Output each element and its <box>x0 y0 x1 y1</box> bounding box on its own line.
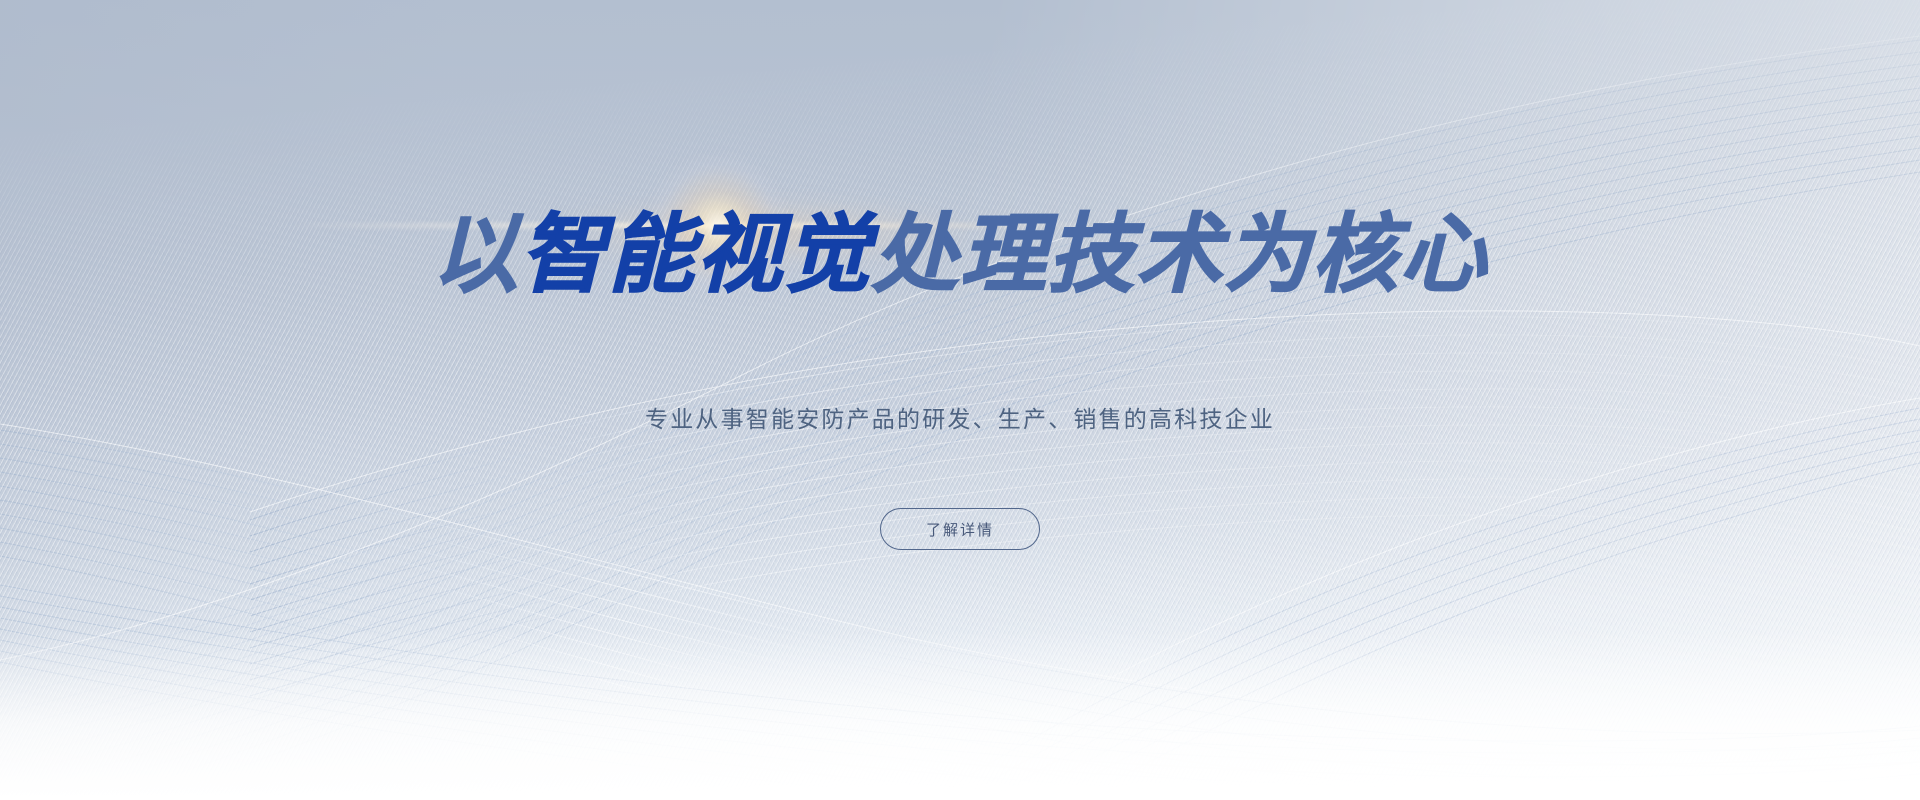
headline-segment-2: 智能视觉 <box>520 207 872 303</box>
hero-banner: 以智能视觉处理技术为核心 专业从事智能安防产品的研发、生产、销售的高科技企业 了… <box>0 0 1920 800</box>
headline-segment-1: 以 <box>432 207 520 303</box>
headline-segment-3: 处理技术为核心 <box>872 207 1488 303</box>
page-subtitle: 专业从事智能安防产品的研发、生产、销售的高科技企业 <box>645 400 1275 434</box>
page-title: 以智能视觉处理技术为核心 <box>432 212 1488 298</box>
learn-more-button[interactable]: 了解详情 <box>880 508 1040 550</box>
